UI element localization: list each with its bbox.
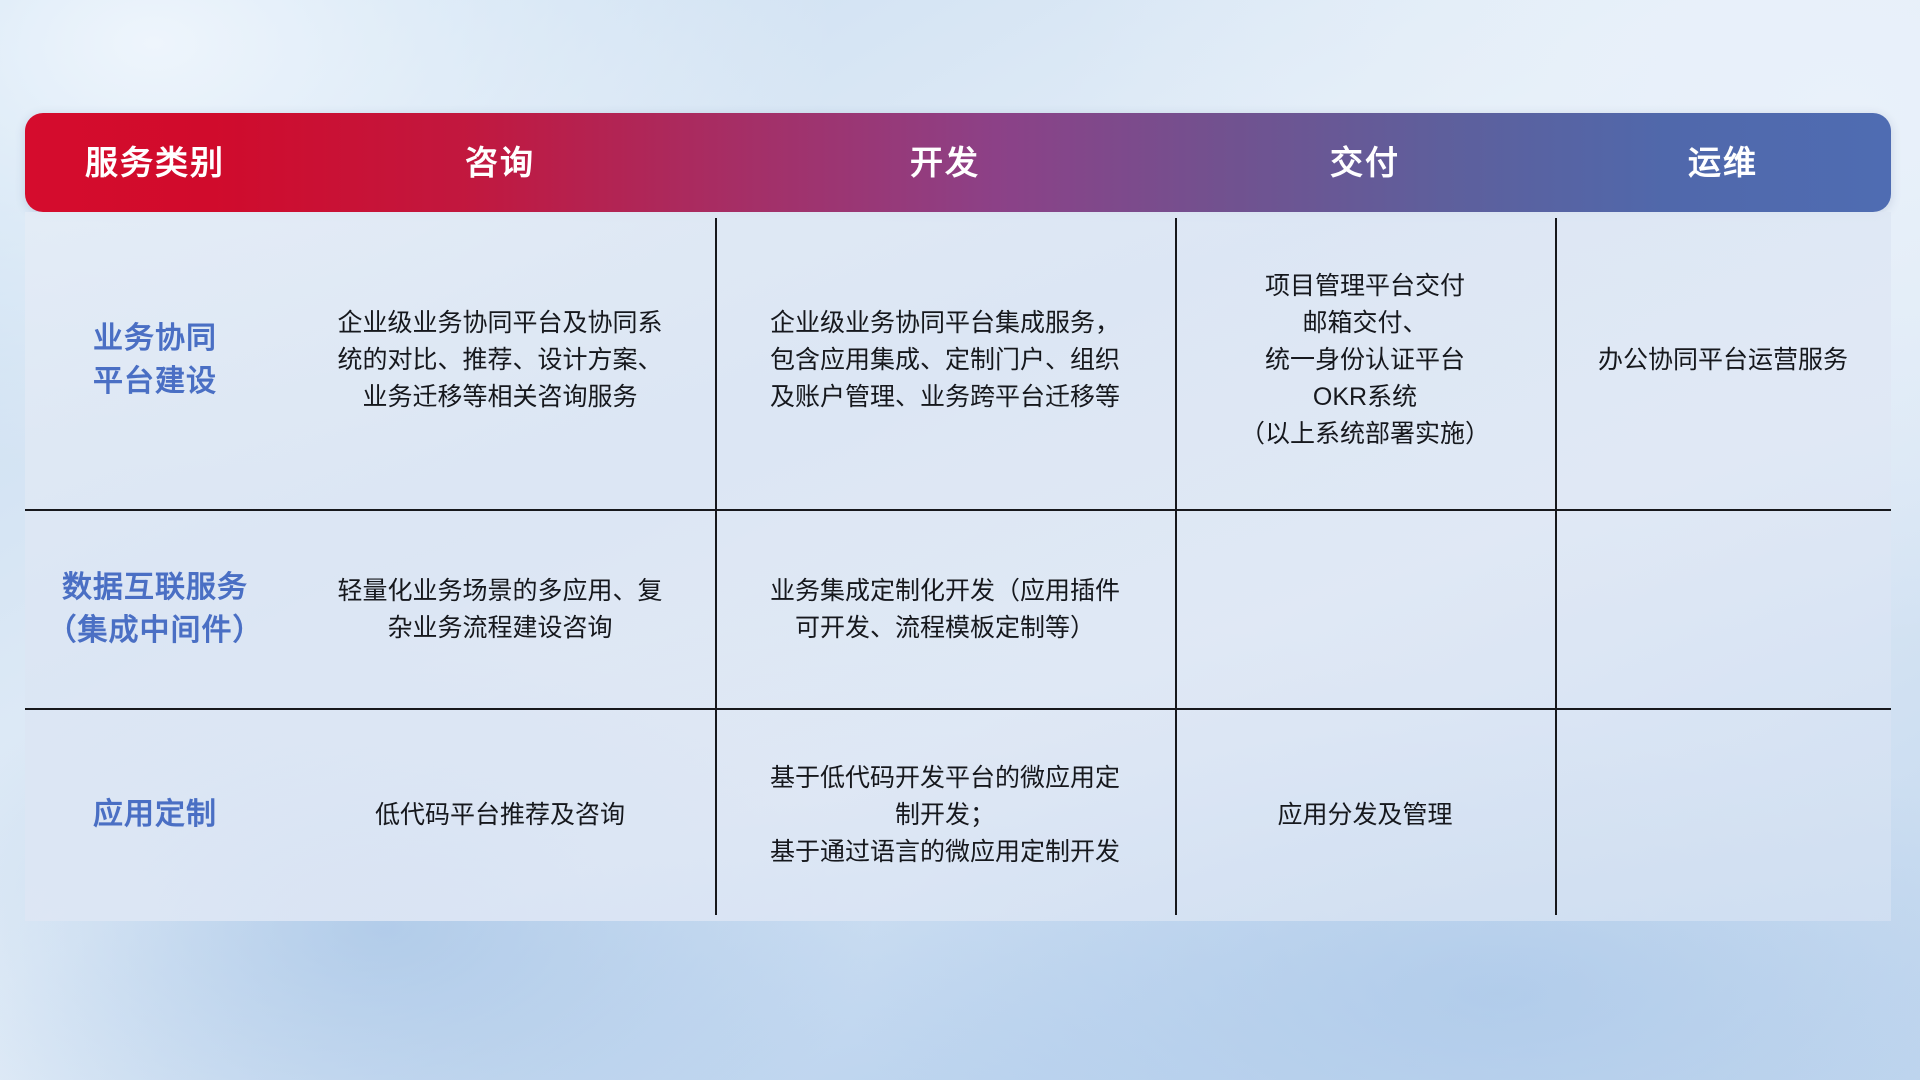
column-header-consulting: 咨询 (285, 146, 715, 179)
cell-operations: 办公协同平台运营服务 (1555, 212, 1891, 509)
cell-text: 企业级业务协同平台集成服务， 包含应用集成、定制门户、组织 及账户管理、业务跨平… (770, 305, 1120, 416)
cell-consulting: 轻量化业务场景的多应用、复 杂业务流程建设咨询 (285, 511, 715, 708)
table-row: 应用定制 低代码平台推荐及咨询 基于低代码开发平台的微应用定 制开发； 基于通过… (25, 710, 1891, 921)
cell-development: 企业级业务协同平台集成服务， 包含应用集成、定制门户、组织 及账户管理、业务跨平… (715, 212, 1175, 509)
cell-text: 低代码平台推荐及咨询 (375, 797, 625, 834)
cell-consulting: 企业级业务协同平台及协同系 统的对比、推荐、设计方案、 业务迁移等相关咨询服务 (285, 212, 715, 509)
cell-consulting: 低代码平台推荐及咨询 (285, 710, 715, 921)
cell-text: 企业级业务协同平台及协同系 统的对比、推荐、设计方案、 业务迁移等相关咨询服务 (337, 305, 662, 416)
column-header-operations: 运维 (1555, 146, 1891, 179)
table-header-row: 服务类别 咨询 开发 交付 运维 (25, 113, 1891, 212)
table-row: 业务协同 平台建设 企业级业务协同平台及协同系 统的对比、推荐、设计方案、 业务… (25, 212, 1891, 509)
cell-development: 基于低代码开发平台的微应用定 制开发； 基于通过语言的微应用定制开发 (715, 710, 1175, 921)
cell-text: 应用分发及管理 (1277, 797, 1452, 834)
cell-operations (1555, 511, 1891, 708)
column-header-development: 开发 (715, 146, 1175, 179)
cell-text: 基于低代码开发平台的微应用定 制开发； 基于通过语言的微应用定制开发 (770, 760, 1120, 871)
cell-delivery: 项目管理平台交付 邮箱交付、 统一身份认证平台 OKR系统 （以上系统部署实施） (1175, 212, 1555, 509)
cell-delivery (1175, 511, 1555, 708)
table-body: 业务协同 平台建设 企业级业务协同平台及协同系 统的对比、推荐、设计方案、 业务… (25, 212, 1891, 921)
table-row: 数据互联服务 （集成中间件） 轻量化业务场景的多应用、复 杂业务流程建设咨询 业… (25, 511, 1891, 708)
cell-text: 办公协同平台运营服务 (1598, 342, 1848, 379)
service-category-table: 服务类别 咨询 开发 交付 运维 业务协同 平台建设 企业级业务协同平台及协同系… (25, 113, 1891, 921)
cell-development: 业务集成定制化开发（应用插件 可开发、流程模板定制等） (715, 511, 1175, 708)
row-category-text: 应用定制 (93, 794, 217, 837)
column-header-delivery: 交付 (1175, 146, 1555, 179)
column-header-category: 服务类别 (25, 146, 285, 179)
row-category-text: 数据互联服务 （集成中间件） (47, 567, 264, 652)
row-category-text: 业务协同 平台建设 (93, 318, 217, 403)
cell-delivery: 应用分发及管理 (1175, 710, 1555, 921)
row-category-label: 应用定制 (25, 710, 285, 921)
row-category-label: 业务协同 平台建设 (25, 212, 285, 509)
cell-text: 轻量化业务场景的多应用、复 杂业务流程建设咨询 (337, 573, 662, 647)
cell-operations (1555, 710, 1891, 921)
cell-text: 业务集成定制化开发（应用插件 可开发、流程模板定制等） (770, 573, 1120, 647)
cell-text: 项目管理平台交付 邮箱交付、 统一身份认证平台 OKR系统 （以上系统部署实施） (1240, 268, 1490, 453)
row-category-label: 数据互联服务 （集成中间件） (25, 511, 285, 708)
